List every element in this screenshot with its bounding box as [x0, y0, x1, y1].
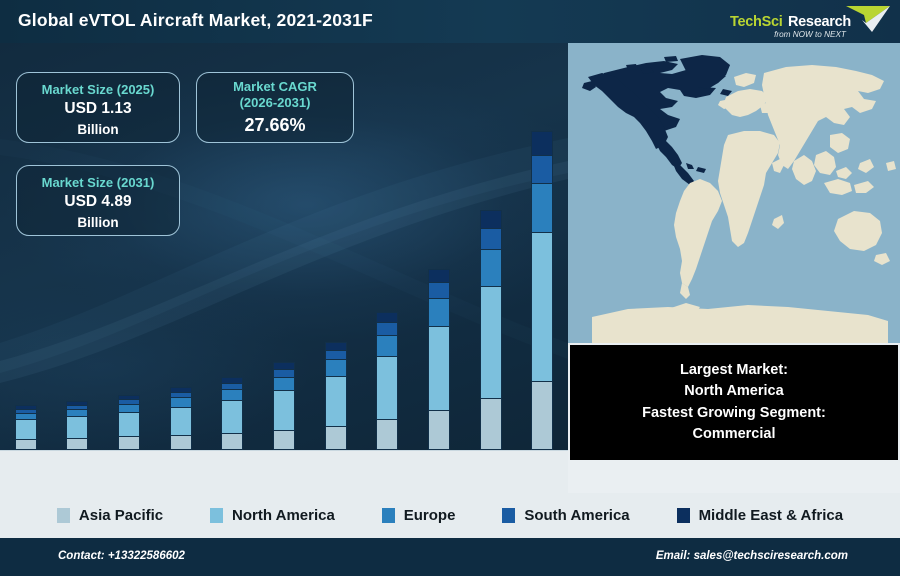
info-line-fastest-segment-label: Fastest Growing Segment: — [642, 403, 826, 424]
bar-segment-middle-east-africa — [480, 210, 502, 228]
bar-segment-north-america — [480, 286, 502, 398]
header-bar: Global eVTOL Aircraft Market, 2021-2031F… — [0, 0, 900, 43]
bar-group — [118, 395, 140, 450]
footer-contact: Contact: +13322586602 — [58, 550, 185, 562]
info-box: Largest Market: North America Fastest Gr… — [570, 345, 898, 460]
info-line-largest-market-value: North America — [684, 381, 783, 402]
stat-value: USD 1.13 — [17, 98, 179, 120]
legend-swatch-icon — [502, 508, 515, 523]
bar-segment-asia-pacific — [118, 436, 140, 450]
bar-group — [15, 405, 37, 450]
bar-segment-europe — [480, 249, 502, 286]
bar-segment-asia-pacific — [531, 381, 553, 450]
bar-segment-north-america — [15, 419, 37, 439]
stat-label-period: (2026-2031) — [197, 95, 353, 111]
legend-swatch-icon — [57, 508, 70, 523]
bar-segment-europe — [118, 404, 140, 412]
legend-item[interactable]: Middle East & Africa — [677, 507, 843, 524]
legend-item[interactable]: Asia Pacific — [57, 507, 163, 524]
footer-bar: Contact: +13322586602 Email: sales@techs… — [0, 538, 900, 576]
bar-segment-north-america — [376, 356, 398, 420]
legend-label: Europe — [404, 507, 456, 524]
info-line-largest-market-label: Largest Market: — [680, 360, 788, 381]
bar-segment-asia-pacific — [15, 439, 37, 450]
footer-email: Email: sales@techsciresearch.com — [656, 550, 848, 562]
info-line-fastest-segment-value: Commercial — [692, 424, 775, 445]
svg-text:Research: Research — [788, 14, 851, 30]
bar-segment-middle-east-africa — [428, 269, 450, 283]
bar-group — [480, 210, 502, 450]
chart-panel: 202120222023202420252026E2027F2028F2029F… — [0, 43, 568, 493]
bar-segment-north-america — [66, 416, 88, 438]
bar-segment-europe — [325, 359, 347, 376]
bar-group — [376, 312, 398, 450]
stat-box-market-cagr: Market CAGR (2026-2031) 27.66% — [196, 72, 354, 143]
legend-item[interactable]: Europe — [382, 507, 456, 524]
bar-segment-north-america — [273, 390, 295, 430]
legend-swatch-icon — [382, 508, 395, 523]
bar-segment-south-america — [376, 322, 398, 334]
bar-segment-north-america — [325, 376, 347, 426]
bar-segment-north-america — [531, 232, 553, 381]
bar-segment-asia-pacific — [221, 433, 243, 450]
bar-segment-middle-east-africa — [325, 342, 347, 350]
logo-icon: TechSci Research from NOW to NEXT — [714, 2, 894, 42]
bar-group — [273, 362, 295, 450]
legend-label: Middle East & Africa — [699, 507, 843, 524]
stat-value: 27.66% — [197, 112, 353, 138]
bar-segment-asia-pacific — [66, 438, 88, 450]
bar-group — [531, 131, 553, 450]
stat-value: USD 4.89 — [17, 191, 179, 213]
legend-swatch-icon — [210, 508, 223, 523]
bar-segment-europe — [428, 298, 450, 326]
legend-item[interactable]: North America — [210, 507, 335, 524]
x-axis-line — [0, 450, 568, 452]
x-axis-strip — [0, 451, 568, 493]
bar-segment-europe — [170, 397, 192, 406]
bar-segment-north-america — [170, 407, 192, 435]
svg-text:from NOW to NEXT: from NOW to NEXT — [774, 30, 847, 39]
bar-segment-europe — [376, 335, 398, 356]
world-map-svg — [568, 43, 900, 343]
stat-label: Market CAGR — [197, 79, 353, 95]
legend-swatch-icon — [677, 508, 690, 523]
bar-segment-south-america — [325, 350, 347, 360]
stat-unit: Billion — [17, 214, 179, 232]
bar-segment-middle-east-africa — [531, 131, 553, 155]
bar-segment-north-america — [118, 412, 140, 436]
bar-segment-asia-pacific — [273, 430, 295, 450]
bar-segment-south-america — [480, 228, 502, 250]
bar-segment-europe — [66, 409, 88, 416]
bar-segment-middle-east-africa — [376, 312, 398, 322]
stat-box-market-size-2025: Market Size (2025) USD 1.13 Billion — [16, 72, 180, 143]
bar-segment-south-america — [531, 155, 553, 184]
bar-segment-asia-pacific — [428, 410, 450, 450]
bar-segment-asia-pacific — [170, 435, 192, 450]
bar-group — [221, 377, 243, 450]
techsci-research-logo: TechSci Research from NOW to NEXT — [714, 2, 894, 42]
chart-legend: Asia PacificNorth AmericaEuropeSouth Ame… — [0, 493, 900, 538]
bar-segment-asia-pacific — [376, 419, 398, 450]
world-map — [568, 43, 900, 343]
legend-label: North America — [232, 507, 335, 524]
legend-label: Asia Pacific — [79, 507, 163, 524]
page-title: Global eVTOL Aircraft Market, 2021-2031F — [18, 10, 373, 31]
stat-label: Market Size (2025) — [17, 82, 179, 98]
bar-segment-europe — [221, 389, 243, 400]
bar-segment-south-america — [428, 282, 450, 298]
stat-unit: Billion — [17, 121, 179, 139]
stat-box-market-size-2031: Market Size (2031) USD 4.89 Billion — [16, 165, 180, 236]
bar-segment-europe — [531, 183, 553, 231]
bar-group — [325, 342, 347, 450]
bar-segment-south-america — [273, 369, 295, 377]
bar-group — [170, 387, 192, 450]
stat-label: Market Size (2031) — [17, 175, 179, 191]
svg-text:TechSci: TechSci — [730, 14, 782, 30]
bar-group — [66, 401, 88, 450]
legend-item[interactable]: South America — [502, 507, 629, 524]
bar-segment-north-america — [221, 400, 243, 433]
bar-segment-asia-pacific — [480, 398, 502, 450]
bar-segment-europe — [273, 377, 295, 390]
bar-group — [428, 269, 450, 450]
bar-segment-asia-pacific — [325, 426, 347, 450]
bar-segment-north-america — [428, 326, 450, 410]
legend-label: South America — [524, 507, 629, 524]
